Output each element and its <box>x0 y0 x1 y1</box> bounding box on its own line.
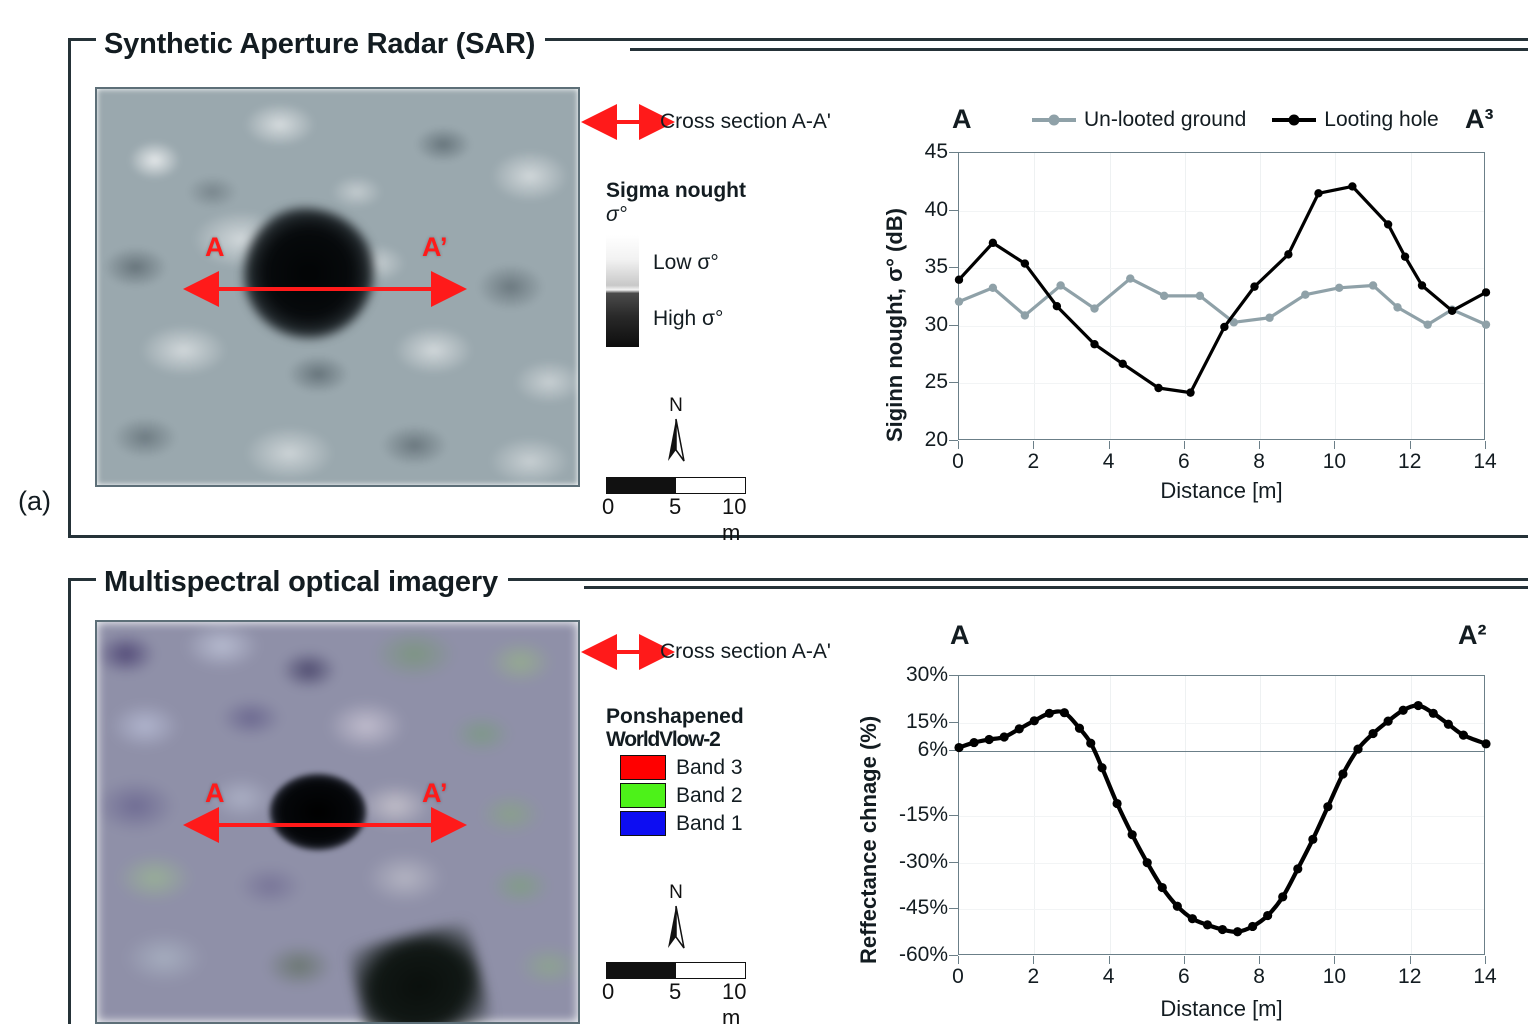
sar-legend-cross-section-label: Cross section A-A' <box>660 110 831 134</box>
sar-chart-legend: Un-looted ground Looting hole <box>1032 108 1439 132</box>
ytick-label: 25 <box>925 370 948 394</box>
data-point <box>1056 281 1064 289</box>
unlooted-dot-swatch <box>1049 115 1060 126</box>
data-point <box>1323 802 1332 811</box>
north-arrow-icon <box>606 904 746 950</box>
data-point <box>1384 220 1392 228</box>
ms-north-arrow-group: N <box>606 882 746 950</box>
ytick-mark <box>949 815 958 816</box>
data-point <box>1353 745 1362 754</box>
multispectral-profile-chart: A A² Reffectance chnage (%) 30%15%6%-15%… <box>850 620 1500 1020</box>
ytick-mark <box>949 382 958 383</box>
series-layer <box>959 676 1486 956</box>
ms-chart-plot-area[interactable] <box>958 675 1485 955</box>
ms-legend-heading-line1: Ponshapened <box>606 706 831 729</box>
sar-cross-section-overlay: A A’ <box>95 87 580 487</box>
data-point <box>1399 706 1408 715</box>
data-point <box>1459 731 1468 740</box>
band-2-swatch <box>620 783 666 808</box>
ms-scale-tick-10: 10 m <box>722 979 766 1024</box>
data-point <box>1186 388 1194 396</box>
scalebar-segment-empty <box>676 478 745 493</box>
data-point <box>1265 314 1273 322</box>
data-point <box>1218 925 1227 934</box>
data-point <box>1482 288 1490 296</box>
sar-chart-endlabel-left: A <box>952 104 972 135</box>
sar-chart-xlabel: Distance [m] <box>958 478 1485 504</box>
ytick-label: 40 <box>925 198 948 222</box>
ytick-mark <box>949 440 958 441</box>
xtick-mark <box>1259 956 1260 964</box>
ytick-label: 35 <box>925 255 948 279</box>
ramp-low-label: Low σ° <box>653 251 723 275</box>
ytick-label: 20 <box>925 428 948 452</box>
ms-band-swatch-list: Band 3 Band 2 Band 1 <box>606 755 831 836</box>
figure-root: Synthetic Aperture Radar (SAR) A A’ <box>0 0 1536 1024</box>
xtick-label: 8 <box>1253 965 1265 989</box>
data-point <box>1000 732 1009 741</box>
data-point <box>969 738 978 747</box>
sar-scalebar <box>606 477 746 494</box>
sar-scale-tick-0: 0 <box>602 494 614 520</box>
data-point <box>1301 290 1309 298</box>
series-line <box>959 279 1486 325</box>
ms-north-label: N <box>606 882 746 904</box>
sar-legend-label-unlooted: Un-looted ground <box>1084 108 1246 132</box>
data-point <box>1314 189 1322 197</box>
data-point <box>1015 724 1024 733</box>
data-point <box>1233 927 1242 936</box>
data-point <box>1075 724 1084 733</box>
ytick-label: -60% <box>899 943 948 967</box>
data-point <box>1220 323 1228 331</box>
xtick-mark <box>1485 441 1486 449</box>
sar-chart-ylabel: Siginn nought, σ° (dB) <box>882 208 908 442</box>
data-point <box>1021 259 1029 267</box>
data-point <box>955 297 963 305</box>
data-point <box>1423 320 1431 328</box>
xtick-label: 10 <box>1323 450 1346 474</box>
sigma-nought-ramp-group: Low σ° High σ° <box>606 235 831 347</box>
data-point <box>1173 902 1182 911</box>
xtick-label: 4 <box>1103 450 1115 474</box>
subfigure-label: (a) <box>18 486 51 517</box>
multispectral-title-rule <box>584 586 1528 589</box>
data-point <box>1369 281 1377 289</box>
ms-legend-heading: Ponshapened WorldVlow-2 <box>606 706 831 751</box>
ramp-high-label: High σ° <box>653 307 723 331</box>
looting-dot-swatch <box>1289 115 1300 126</box>
sar-legend-cross-section-row: Cross section A-A' <box>606 110 831 134</box>
sar-title-rule <box>630 48 1528 51</box>
data-point <box>1053 302 1061 310</box>
data-point <box>1482 320 1490 328</box>
ms-band-row-1: Band 1 <box>620 811 831 836</box>
xtick-label: 2 <box>1027 965 1039 989</box>
multispectral-legend: Cross section A-A' Ponshapened WorldVlow… <box>606 640 831 1005</box>
ms-scalebar <box>606 962 746 979</box>
ytick-label: 30 <box>925 313 948 337</box>
data-point <box>1090 340 1098 348</box>
data-point <box>1188 914 1197 923</box>
sar-north-arrow-group: N <box>606 395 746 463</box>
xtick-label: 12 <box>1398 965 1421 989</box>
data-point <box>1090 304 1098 312</box>
xtick-mark <box>1109 956 1110 964</box>
data-point <box>1338 769 1347 778</box>
sar-panel-title: Synthetic Aperture Radar (SAR) <box>96 28 545 61</box>
data-point <box>955 276 963 284</box>
xtick-mark <box>1033 956 1034 964</box>
sar-profile-chart: A A³ Un-looted ground Looting hole Sigin… <box>880 100 1500 500</box>
ms-legend-cross-section-label: Cross section A-A' <box>660 640 831 664</box>
ytick-mark <box>949 862 958 863</box>
data-point <box>1384 717 1393 726</box>
sar-scale-tick-10: 10 m <box>722 494 766 546</box>
xtick-mark <box>958 956 959 964</box>
data-point <box>1160 292 1168 300</box>
xtick-label: 2 <box>1027 450 1039 474</box>
sar-legend: Cross section A-A' Sigma nought σ° Low σ… <box>606 110 831 520</box>
xtick-mark <box>958 441 959 449</box>
sar-legend-heading: Sigma nought σ° <box>606 180 831 227</box>
sar-north-label: N <box>606 395 746 417</box>
north-arrow-icon <box>606 417 746 463</box>
xtick-label: 14 <box>1473 965 1496 989</box>
xtick-label: 8 <box>1253 450 1265 474</box>
ms-scalebar-labels: 0 5 10 m <box>606 979 766 1005</box>
data-point <box>985 735 994 744</box>
ms-chart-endlabel-right: A² <box>1458 620 1487 651</box>
data-point <box>1429 709 1438 718</box>
data-point <box>1393 303 1401 311</box>
ytick-mark <box>949 210 958 211</box>
cross-section-arrow-icon <box>606 644 650 660</box>
data-point <box>1335 284 1343 292</box>
sar-legend-heading-line1: Sigma nought <box>606 180 831 203</box>
data-point <box>1097 763 1106 772</box>
xtick-mark <box>1410 956 1411 964</box>
ms-scale-tick-5: 5 <box>669 979 681 1005</box>
ytick-label: -45% <box>899 896 948 920</box>
data-point <box>1030 716 1039 725</box>
series-line <box>959 186 1486 392</box>
sar-legend-label-looting: Looting hole <box>1324 108 1438 132</box>
band-1-swatch <box>620 811 666 836</box>
data-point <box>1348 182 1356 190</box>
ms-scalebar-group: 0 5 10 m <box>606 962 831 1005</box>
band-2-label: Band 2 <box>676 784 743 808</box>
data-point <box>1368 729 1377 738</box>
xtick-mark <box>1259 441 1260 449</box>
data-point <box>989 239 997 247</box>
data-point <box>1284 250 1292 258</box>
data-point <box>1126 274 1134 282</box>
data-point <box>1196 292 1204 300</box>
sar-scale-tick-5: 5 <box>669 494 681 520</box>
sar-scalebar-labels: 0 5 10 m <box>606 494 766 520</box>
xtick-mark <box>1184 441 1185 449</box>
cross-section-arrow-icon <box>606 114 650 130</box>
data-point <box>1248 922 1257 931</box>
data-point <box>1263 911 1272 920</box>
xtick-label: 6 <box>1178 965 1190 989</box>
scalebar-segment-empty <box>676 963 745 978</box>
ms-band-row-2: Band 2 <box>620 783 831 808</box>
data-point <box>1308 835 1317 844</box>
data-point <box>1444 720 1453 729</box>
xtick-mark <box>1334 956 1335 964</box>
ytick-mark <box>949 955 958 956</box>
data-point <box>1250 282 1258 290</box>
ytick-mark <box>949 267 958 268</box>
data-point <box>1021 311 1029 319</box>
ytick-label: 6% <box>918 738 948 762</box>
unlooted-line-swatch <box>1032 118 1076 122</box>
series-line <box>959 705 1486 931</box>
ms-legend-heading-line2: WorldVlow-2 <box>606 729 831 752</box>
ms-chart-endlabel-left: A <box>950 620 970 651</box>
ms-legend-cross-section-row: Cross section A-A' <box>606 640 831 664</box>
data-point <box>1414 701 1423 710</box>
xtick-mark <box>1485 956 1486 964</box>
series-layer <box>959 153 1486 441</box>
ytick-label: -30% <box>899 850 948 874</box>
band-3-label: Band 3 <box>676 756 743 780</box>
ytick-label: 15% <box>906 710 948 734</box>
sar-chart-endlabel-right: A³ <box>1465 104 1494 135</box>
data-point <box>1119 360 1127 368</box>
ms-chart-ylabel: Reffectance chnage (%) <box>856 716 882 964</box>
looting-line-swatch <box>1272 118 1316 122</box>
data-point <box>1418 281 1426 289</box>
sigma-nought-color-ramp <box>606 235 639 347</box>
ms-chart-xlabel: Distance [m] <box>958 996 1485 1022</box>
sar-chart-plot-area[interactable] <box>958 152 1485 440</box>
xtick-mark <box>1109 441 1110 449</box>
data-point <box>1448 307 1456 315</box>
xtick-mark <box>1410 441 1411 449</box>
ytick-label: 45 <box>925 140 948 164</box>
data-point <box>1481 739 1490 748</box>
ytick-mark <box>949 152 958 153</box>
data-point <box>1113 799 1122 808</box>
multispectral-cross-section-overlay: A A’ <box>95 620 580 1024</box>
data-point <box>1278 892 1287 901</box>
data-point <box>954 743 963 752</box>
ms-band-row-3: Band 3 <box>620 755 831 780</box>
sar-legend-item-unlooted: Un-looted ground <box>1032 108 1246 132</box>
ytick-mark <box>949 675 958 676</box>
data-point <box>1154 384 1162 392</box>
data-point <box>1045 709 1054 718</box>
xtick-label: 10 <box>1323 965 1346 989</box>
data-point <box>1128 830 1137 839</box>
multispectral-panel-title: Multispectral optical imagery <box>96 566 508 599</box>
xtick-label: 4 <box>1103 965 1115 989</box>
sar-legend-item-looting: Looting hole <box>1272 108 1438 132</box>
xtick-mark <box>1033 441 1034 449</box>
data-point <box>989 284 997 292</box>
xtick-label: 0 <box>952 965 964 989</box>
band-3-swatch <box>620 755 666 780</box>
ytick-mark <box>949 908 958 909</box>
xtick-mark <box>1184 956 1185 964</box>
scalebar-segment-filled <box>607 478 676 493</box>
sar-scalebar-group: 0 5 10 m <box>606 477 831 520</box>
data-point <box>1293 864 1302 873</box>
data-point <box>1401 252 1409 260</box>
ytick-label: -15% <box>899 803 948 827</box>
xtick-mark <box>1334 441 1335 449</box>
data-point <box>1060 708 1069 717</box>
xtick-label: 0 <box>952 450 964 474</box>
xtick-label: 14 <box>1473 450 1496 474</box>
ytick-label: 30% <box>906 663 948 687</box>
ytick-mark <box>949 722 958 723</box>
xtick-label: 12 <box>1398 450 1421 474</box>
scalebar-segment-filled <box>607 963 676 978</box>
data-point <box>1086 739 1095 748</box>
data-point <box>1158 883 1167 892</box>
sar-legend-heading-line2: σ° <box>606 203 831 227</box>
ytick-mark <box>949 325 958 326</box>
ms-scale-tick-0: 0 <box>602 979 614 1005</box>
data-point <box>1203 920 1212 929</box>
band-1-label: Band 1 <box>676 812 743 836</box>
xtick-label: 6 <box>1178 450 1190 474</box>
data-point <box>1143 858 1152 867</box>
